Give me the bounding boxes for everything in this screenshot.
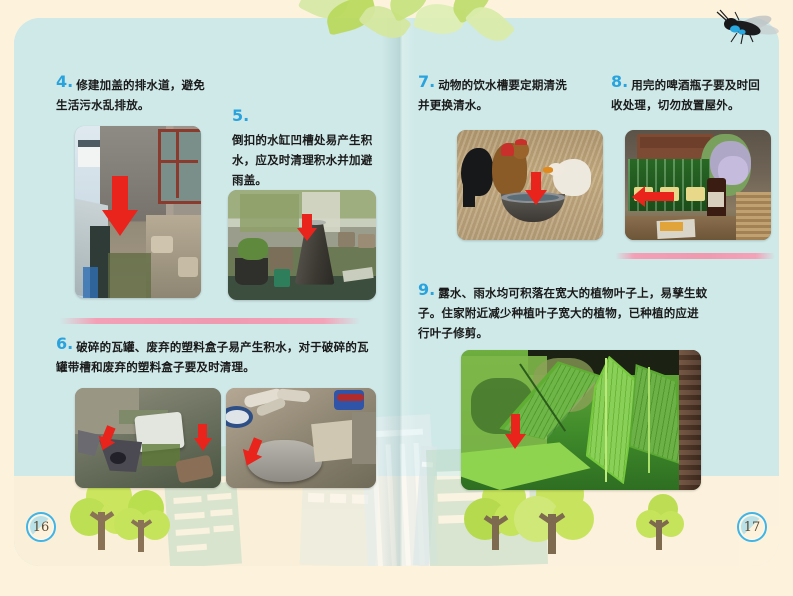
item-5: 5. 倒扣的水缸凹槽处易产生积水，应及时清理积水并加避雨盖。 bbox=[232, 108, 380, 189]
item-5-number: 5. bbox=[232, 108, 249, 124]
item-8: 8.用完的啤酒瓶子要及时回收处理，切勿放置屋外。 bbox=[611, 74, 763, 114]
down-arrow-icon bbox=[101, 176, 139, 238]
left-arrow-icon bbox=[631, 186, 675, 208]
item-7-number: 7. bbox=[418, 74, 435, 90]
page-number-left-text: 16 bbox=[33, 520, 50, 535]
book-spread: 4.修建加盖的排水道，避免生活污水乱排放。 bbox=[14, 18, 779, 566]
book-spread-page: 4.修建加盖的排水道，避免生活污水乱排放。 bbox=[0, 0, 793, 596]
item-6-number: 6. bbox=[56, 336, 73, 352]
photo-discarded-lid[interactable] bbox=[226, 388, 376, 488]
down-arrow-icon bbox=[193, 424, 213, 452]
item-8-number: 8. bbox=[611, 74, 628, 90]
photo-beer-bottles[interactable] bbox=[625, 130, 771, 240]
section-divider bbox=[60, 318, 360, 324]
tree-icon bbox=[636, 494, 684, 550]
photo-broad-leaves[interactable] bbox=[461, 350, 701, 490]
item-6-text: 破碎的瓦罐、废弃的塑料盒子易产生积水，对于破碎的瓦罐带槽和废弃的塑料盒子要及时清… bbox=[56, 340, 369, 374]
page-number-right: 17 bbox=[737, 512, 767, 542]
item-4: 4.修建加盖的排水道，避免生活污水乱排放。 bbox=[56, 74, 216, 114]
down-arrow-icon bbox=[505, 414, 527, 450]
tree-icon bbox=[114, 490, 172, 552]
photo-inverted-water-jar[interactable] bbox=[228, 190, 376, 300]
page-number-right-text: 17 bbox=[744, 520, 761, 535]
item-9: 9.露水、雨水均可积落在宽大的植物叶子上，易孳生蚊子。住家附近减少种植叶子宽大的… bbox=[418, 282, 710, 342]
photo-broken-pottery[interactable] bbox=[75, 388, 221, 488]
section-divider bbox=[615, 253, 775, 259]
item-7: 7.动物的饮水槽要定期清洗并更换清水。 bbox=[418, 74, 578, 114]
photo-chicken-water-trough[interactable] bbox=[457, 130, 603, 240]
item-4-text: 修建加盖的排水道，避免生活污水乱排放。 bbox=[56, 78, 205, 112]
mosquito-icon bbox=[709, 6, 785, 46]
item-9-number: 9. bbox=[418, 282, 435, 298]
item-9-text: 露水、雨水均可积落在宽大的植物叶子上，易孳生蚊子。住家附近减少种植叶子宽大的植物… bbox=[418, 286, 707, 340]
item-8-text: 用完的啤酒瓶子要及时回收处理，切勿放置屋外。 bbox=[611, 78, 760, 112]
leaves-icon bbox=[300, 0, 520, 68]
item-4-number: 4. bbox=[56, 74, 73, 90]
item-6: 6.破碎的瓦罐、废弃的塑料盒子易产生积水，对于破碎的瓦罐带槽和废弃的塑料盒子要及… bbox=[56, 336, 372, 376]
item-7-text: 动物的饮水槽要定期清洗并更换清水。 bbox=[418, 78, 567, 112]
item-5-text: 倒扣的水缸凹槽处易产生积水，应及时清理积水并加避雨盖。 bbox=[232, 133, 372, 187]
page-number-left: 16 bbox=[26, 512, 56, 542]
down-arrow-icon bbox=[524, 172, 548, 206]
photo-covered-drain[interactable] bbox=[75, 126, 201, 298]
down-arrow-icon bbox=[296, 214, 318, 242]
